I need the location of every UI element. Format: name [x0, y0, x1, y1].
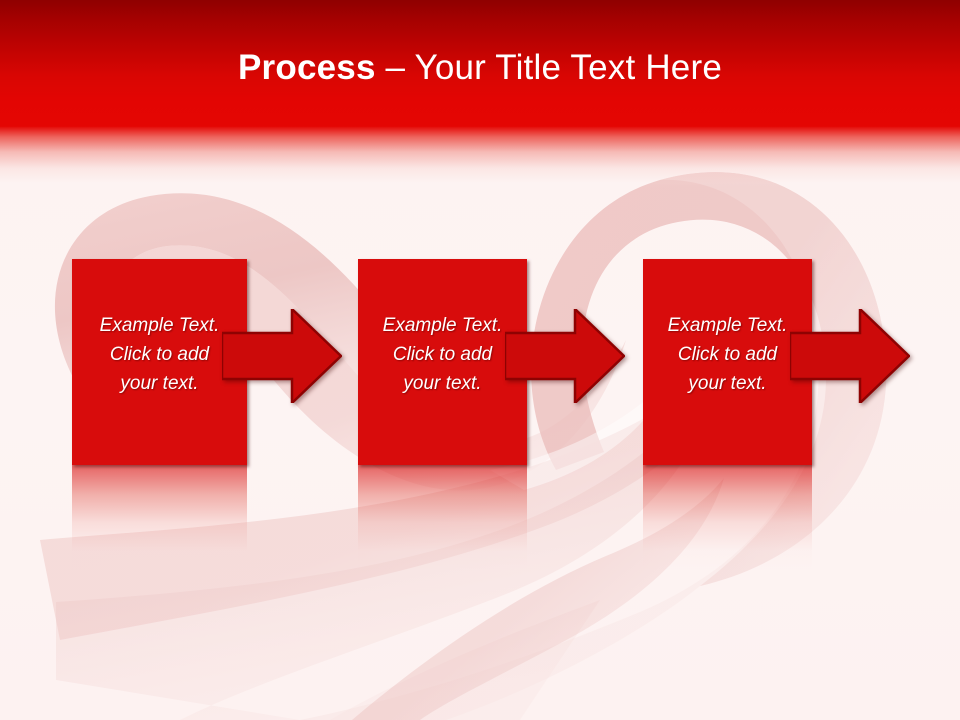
slide-title-rest: – Your Title Text Here [376, 48, 722, 87]
step-reflection-2 [358, 465, 527, 570]
process-step-text-2[interactable]: Example Text. Click to add your text. [358, 311, 527, 398]
process-arrow-1[interactable] [222, 309, 342, 403]
process-step-box-3[interactable]: Example Text. Click to add your text. [643, 259, 812, 465]
step-reflection-1 [72, 465, 247, 570]
process-step-text-3[interactable]: Example Text. Click to add your text. [643, 311, 812, 398]
process-step-box-1[interactable]: Example Text. Click to add your text. [72, 259, 247, 465]
process-step-box-2[interactable]: Example Text. Click to add your text. [358, 259, 527, 465]
process-arrow-3[interactable] [790, 309, 910, 403]
header-fade [0, 126, 960, 188]
slide-canvas: Process – Your Title Text Here Example T… [0, 0, 960, 720]
slide-title-bold: Process [238, 48, 376, 87]
process-arrow-2[interactable] [505, 309, 625, 403]
slide-title: Process – Your Title Text Here [0, 46, 960, 90]
step-reflection-3 [643, 465, 812, 570]
process-step-text-1[interactable]: Example Text. Click to add your text. [72, 311, 247, 398]
